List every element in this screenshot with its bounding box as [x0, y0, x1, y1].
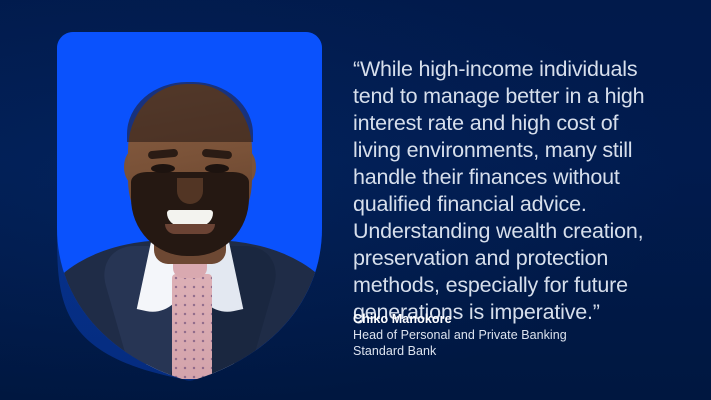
portrait-nose — [177, 178, 203, 204]
quote-card: “While high-income individuals tend to m… — [0, 0, 711, 400]
attribution-name: Chiko Manokore — [353, 312, 693, 327]
portrait-hair — [127, 82, 253, 142]
quote-text-block: “While high-income individuals tend to m… — [353, 56, 693, 326]
attribution-role: Head of Personal and Private Banking — [353, 327, 693, 343]
portrait-lower-lip — [165, 224, 215, 234]
portrait-tie — [172, 274, 212, 379]
portrait-image — [57, 32, 322, 379]
portrait-shield — [57, 32, 322, 379]
shield-shape — [57, 32, 322, 379]
attribution-organisation: Standard Bank — [353, 343, 693, 359]
quote-text: “While high-income individuals tend to m… — [353, 56, 693, 326]
portrait-eye-left — [151, 164, 175, 173]
attribution-block: Chiko Manokore Head of Personal and Priv… — [353, 312, 693, 359]
portrait-eye-right — [205, 164, 229, 173]
